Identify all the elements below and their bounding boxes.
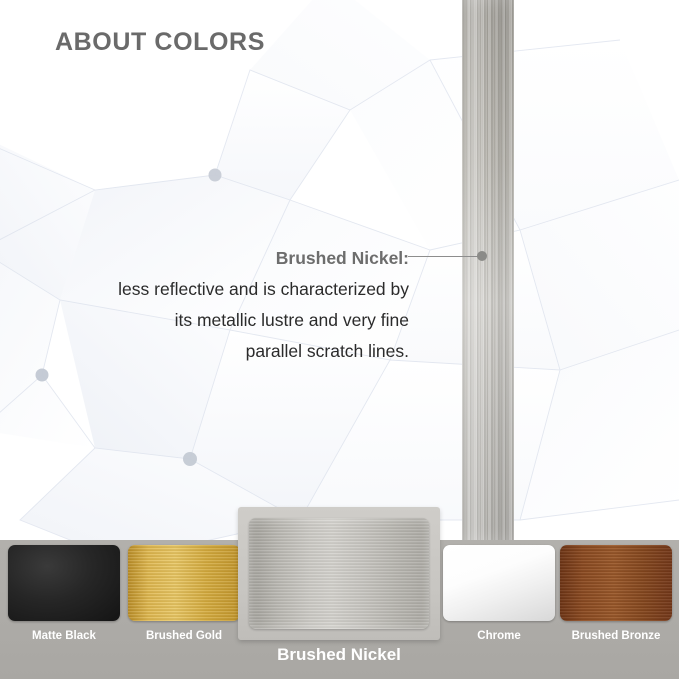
description-line-3: parallel scratch lines. [44, 336, 409, 367]
callout-endpoint-dot [477, 251, 487, 261]
swatch-brushed-bronze[interactable]: Brushed Bronze [560, 545, 672, 642]
brushed-nickel-description: Brushed Nickel: less reflective and is c… [44, 243, 409, 367]
description-line-1: less reflective and is characterized by [44, 274, 409, 305]
swatch-chip-brushed-gold[interactable] [128, 545, 240, 621]
swatch-chip-chrome[interactable] [443, 545, 555, 621]
callout-heading: Brushed Nickel: [276, 248, 409, 268]
swatch-chrome[interactable]: Chrome [443, 545, 555, 642]
swatch-chip-brushed-nickel[interactable] [249, 518, 429, 629]
swatch-chip-matte-black[interactable] [8, 545, 120, 621]
swatch-label-brushed-gold: Brushed Gold [128, 630, 240, 642]
callout-leader-line [408, 256, 480, 257]
brushed-nickel-texture-strip [462, 0, 514, 541]
featured-swatch-label: Brushed Nickel [238, 645, 440, 665]
swatch-label-matte-black: Matte Black [8, 630, 120, 642]
page-title: ABOUT COLORS [55, 28, 265, 57]
swatch-matte-black[interactable]: Matte Black [8, 545, 120, 642]
swatch-label-chrome: Chrome [443, 630, 555, 642]
featured-swatch-brushed-nickel[interactable] [238, 507, 440, 640]
swatch-label-brushed-bronze: Brushed Bronze [560, 630, 672, 642]
about-colors-infographic: ABOUT COLORS Brushed Nickel: less reflec… [0, 0, 679, 679]
description-line-2: its metallic lustre and very fine [44, 305, 409, 336]
strip-sheen-overlay [462, 0, 514, 541]
swatch-chip-brushed-bronze[interactable] [560, 545, 672, 621]
swatch-brushed-gold[interactable]: Brushed Gold [128, 545, 240, 642]
